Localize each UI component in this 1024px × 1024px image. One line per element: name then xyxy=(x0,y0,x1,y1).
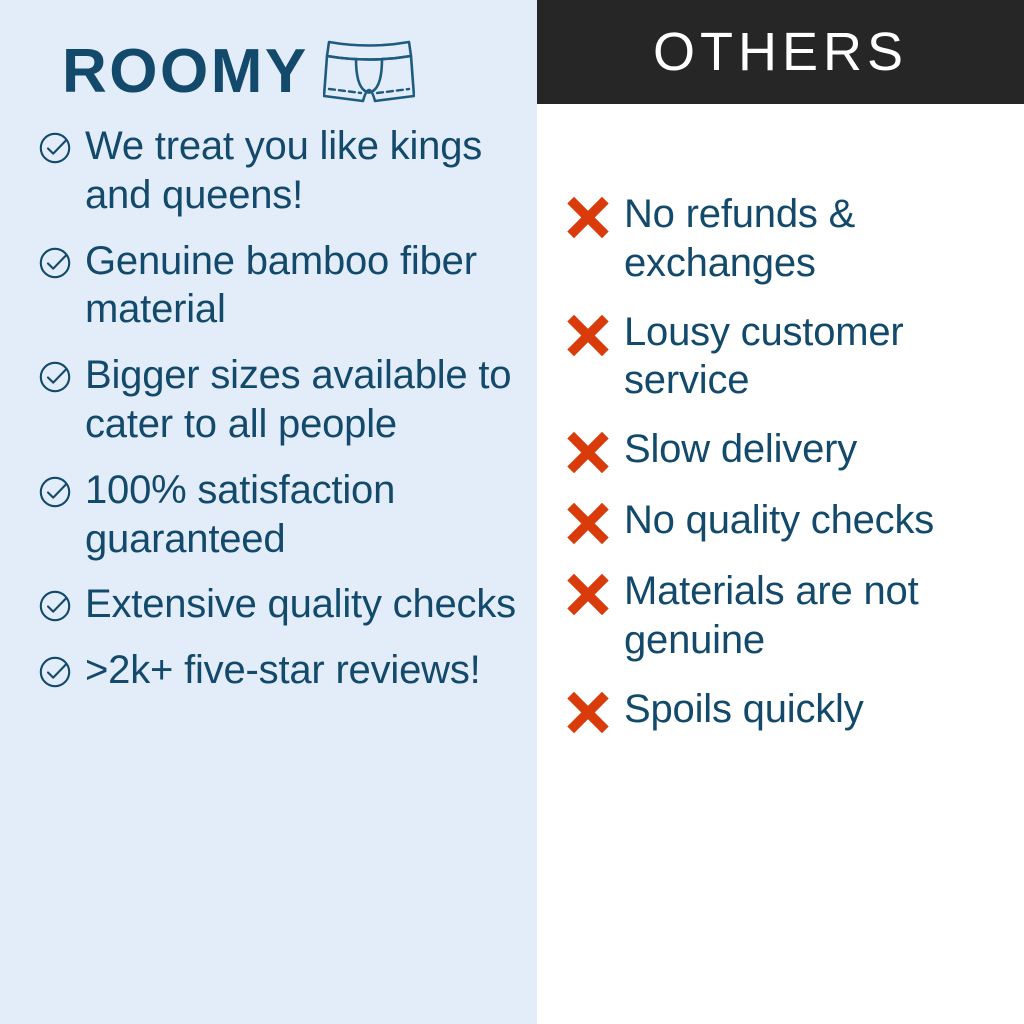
circle-check-icon xyxy=(36,243,76,283)
brand-wordmark: ROOMY xyxy=(62,41,309,103)
pro-item-label: Genuine bamboo fiber material xyxy=(85,237,519,335)
circle-check-icon xyxy=(36,652,76,692)
x-mark-icon xyxy=(565,430,611,476)
comparison-infographic: ROOMY xyxy=(0,0,1024,1024)
pro-item: Genuine bamboo fiber material xyxy=(36,237,519,335)
pro-item-label: We treat you like kings and queens! xyxy=(85,122,519,220)
pro-item: Extensive quality checks xyxy=(36,580,519,629)
pro-item-label: Bigger sizes available to cater to all p… xyxy=(85,351,519,449)
pro-item: 100% satisfaction guaranteed xyxy=(36,466,519,564)
brand-header: ROOMY xyxy=(0,0,537,92)
circle-check-icon xyxy=(36,586,76,626)
con-item-label: No refunds & exchanges xyxy=(624,190,1014,288)
pro-item-label: 100% satisfaction guaranteed xyxy=(85,466,519,564)
x-mark-icon xyxy=(565,313,611,359)
con-item-label: Materials are not genuine xyxy=(624,567,1014,665)
pro-item: Bigger sizes available to cater to all p… xyxy=(36,351,519,449)
con-item-label: Slow delivery xyxy=(624,425,857,474)
circle-check-icon xyxy=(36,472,76,512)
pro-item: We treat you like kings and queens! xyxy=(36,122,519,220)
circle-check-icon xyxy=(36,128,76,168)
con-item: Materials are not genuine xyxy=(565,567,1014,665)
x-mark-icon xyxy=(565,501,611,547)
con-item: No refunds & exchanges xyxy=(565,190,1014,288)
con-item: Slow delivery xyxy=(565,425,1014,476)
x-mark-icon xyxy=(565,195,611,241)
con-item: Lousy customer service xyxy=(565,308,1014,406)
others-banner: OTHERS xyxy=(537,0,1024,104)
con-item: Spoils quickly xyxy=(565,685,1014,736)
pro-item-label: >2k+ five-star reviews! xyxy=(85,646,481,695)
con-item: No quality checks xyxy=(565,496,1014,547)
con-item-label: Spoils quickly xyxy=(624,685,864,734)
con-item-label: Lousy customer service xyxy=(624,308,1014,406)
cons-list: No refunds & exchanges Lousy customer se… xyxy=(537,104,1024,736)
circle-check-icon xyxy=(36,357,76,397)
brand-column: ROOMY xyxy=(0,0,537,1024)
con-item-label: No quality checks xyxy=(624,496,934,545)
others-column: OTHERS No refunds & exchanges Lousy cust… xyxy=(537,0,1024,1024)
pro-item: >2k+ five-star reviews! xyxy=(36,646,519,695)
boxer-briefs-icon xyxy=(323,38,415,106)
others-title: OTHERS xyxy=(653,25,908,79)
x-mark-icon xyxy=(565,690,611,736)
pros-list: We treat you like kings and queens! Genu… xyxy=(0,92,537,695)
pro-item-label: Extensive quality checks xyxy=(85,580,516,629)
x-mark-icon xyxy=(565,572,611,618)
